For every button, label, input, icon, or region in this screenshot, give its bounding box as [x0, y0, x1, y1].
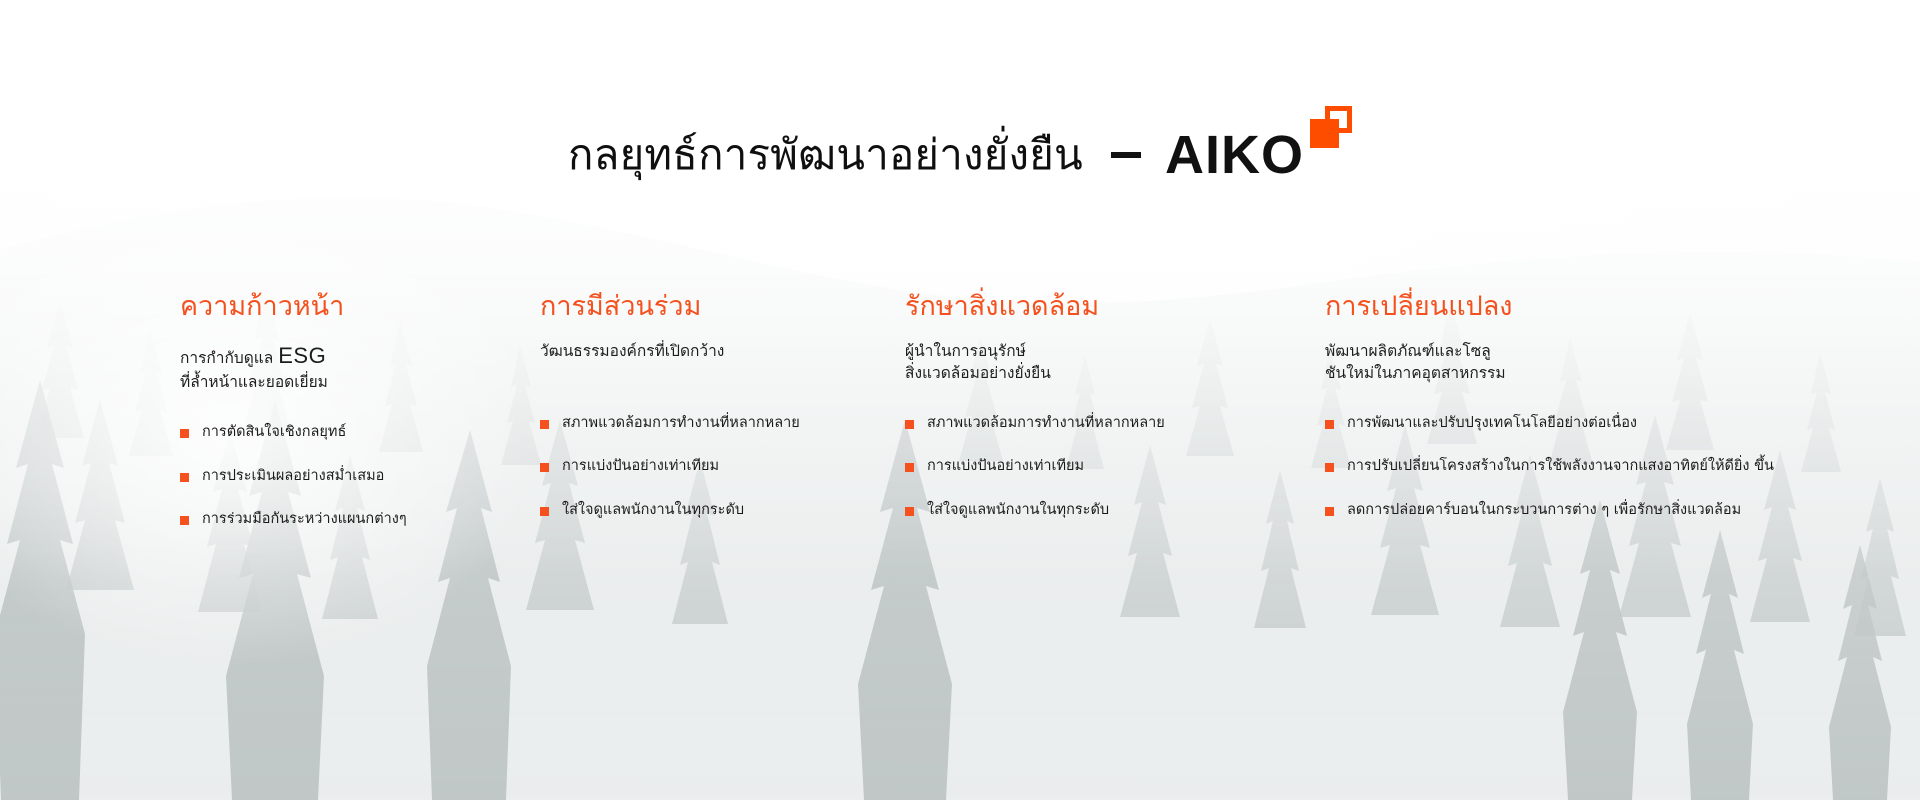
list-item: การร่วมมือกันระหว่างแผนกต่างๆ: [180, 510, 540, 530]
bullet-square-icon: [180, 429, 189, 438]
list-item: การตัดสินใจเชิงกลยุทธ์: [180, 423, 540, 443]
bullet-square-icon: [540, 463, 549, 472]
page-title: กลยุทธ์การพัฒนาอย่างยั่งยืน: [568, 130, 1083, 180]
bullet-label: การพัฒนาและปรับปรุงเทคโนโลยีอย่างต่อเนื่…: [1347, 414, 1637, 434]
list-item: ลดการปล่อยคาร์บอนในกระบวนการต่าง ๆ เพื่อ…: [1325, 501, 1865, 521]
bullet-square-icon: [1325, 463, 1334, 472]
slide-root: กลยุทธ์การพัฒนาอย่างยั่งยืน AIKO ความก้า…: [0, 0, 1920, 800]
aiko-logo: AIKO: [1165, 128, 1352, 182]
aiko-square-mark-icon: [1310, 106, 1352, 148]
bullet-square-icon: [1325, 507, 1334, 516]
bullet-label: การแบ่งปันอย่างเท่าเทียม: [562, 457, 719, 477]
pillar-column-participation: การมีส่วนร่วม วัฒนธรรมองค์กรที่เปิดกว้าง…: [540, 290, 905, 554]
list-item: การประเมินผลอย่างสม่ำเสมอ: [180, 467, 540, 487]
pillar-subtitle: การกำกับดูแล ESG ที่ล้ำหน้าและยอดเยี่ยม: [180, 340, 540, 393]
bullet-label: ใส่ใจดูแลพนักงานในทุกระดับ: [562, 501, 744, 521]
pillar-subtitle-line1-prefix: การกำกับดูแล: [180, 349, 278, 367]
pillar-bullet-list: สภาพแวดล้อมการทำงานที่หลากหลาย การแบ่งปั…: [540, 414, 905, 521]
pillar-column-transformation: การเปลี่ยนแปลง พัฒนาผลิตภัณฑ์และโซลู ชัน…: [1325, 290, 1865, 554]
pillar-subtitle-line2: สิ่งแวดล้อมอย่างยั่งยืน: [905, 364, 1051, 382]
pillar-columns: ความก้าวหน้า การกำกับดูแล ESG ที่ล้ำหน้า…: [180, 290, 1880, 554]
list-item: การพัฒนาและปรับปรุงเทคโนโลยีอย่างต่อเนื่…: [1325, 414, 1865, 434]
bullet-label: ลดการปล่อยคาร์บอนในกระบวนการต่าง ๆ เพื่อ…: [1347, 501, 1741, 521]
bullet-label: การตัดสินใจเชิงกลยุทธ์: [202, 423, 346, 443]
slide-header: กลยุทธ์การพัฒนาอย่างยั่งยืน AIKO: [0, 128, 1920, 182]
pillar-subtitle: ผู้นำในการอนุรักษ์ สิ่งแวดล้อมอย่างยั่งย…: [905, 340, 1325, 384]
list-item: สภาพแวดล้อมการทำงานที่หลากหลาย: [540, 414, 905, 434]
list-item: ใส่ใจดูแลพนักงานในทุกระดับ: [905, 501, 1325, 521]
bullet-square-icon: [180, 473, 189, 482]
title-separator-dash: [1111, 152, 1141, 158]
pillar-subtitle-line1: วัฒนธรรมองค์กรที่เปิดกว้าง: [540, 342, 724, 360]
bullet-label: การประเมินผลอย่างสม่ำเสมอ: [202, 467, 384, 487]
bullet-label: สภาพแวดล้อมการทำงานที่หลากหลาย: [562, 414, 800, 434]
esg-badge: ESG: [278, 343, 326, 368]
pillar-subtitle-line1: ผู้นำในการอนุรักษ์: [905, 342, 1026, 360]
bullet-square-icon: [1325, 420, 1334, 429]
bullet-square-icon: [180, 516, 189, 525]
pillar-bullet-list: สภาพแวดล้อมการทำงานที่หลากหลาย การแบ่งปั…: [905, 414, 1325, 521]
list-item: การแบ่งปันอย่างเท่าเทียม: [905, 457, 1325, 477]
pillar-column-environment: รักษาสิ่งแวดล้อม ผู้นำในการอนุรักษ์ สิ่ง…: [905, 290, 1325, 554]
pillar-subtitle-line1: พัฒนาผลิตภัณฑ์และโซลู: [1325, 342, 1491, 360]
mark-outline-square: [1325, 106, 1352, 133]
bullet-square-icon: [905, 420, 914, 429]
pillar-subtitle-line2: ที่ล้ำหน้าและยอดเยี่ยม: [180, 373, 328, 391]
bullet-label: การร่วมมือกันระหว่างแผนกต่างๆ: [202, 510, 407, 530]
pillar-bullet-list: การพัฒนาและปรับปรุงเทคโนโลยีอย่างต่อเนื่…: [1325, 414, 1865, 521]
pillar-heading: ความก้าวหน้า: [180, 290, 540, 324]
aiko-wordmark: AIKO: [1165, 128, 1304, 182]
bullet-label: การแบ่งปันอย่างเท่าเทียม: [927, 457, 1084, 477]
bullet-label: สภาพแวดล้อมการทำงานที่หลากหลาย: [927, 414, 1165, 434]
pillar-heading: รักษาสิ่งแวดล้อม: [905, 290, 1325, 324]
bullet-square-icon: [540, 507, 549, 516]
pillar-subtitle: วัฒนธรรมองค์กรที่เปิดกว้าง: [540, 340, 905, 384]
pillar-bullet-list: การตัดสินใจเชิงกลยุทธ์ การประเมินผลอย่าง…: [180, 423, 540, 530]
bullet-label: ใส่ใจดูแลพนักงานในทุกระดับ: [927, 501, 1109, 521]
list-item: ใส่ใจดูแลพนักงานในทุกระดับ: [540, 501, 905, 521]
pillar-subtitle-line2: ชันใหม่ในภาคอุตสาหกรรม: [1325, 364, 1506, 382]
pillar-heading: การเปลี่ยนแปลง: [1325, 290, 1865, 324]
list-item: การแบ่งปันอย่างเท่าเทียม: [540, 457, 905, 477]
list-item: การปรับเปลี่ยนโครงสร้างในการใช้พลังงานจา…: [1325, 457, 1865, 477]
bullet-label: การปรับเปลี่ยนโครงสร้างในการใช้พลังงานจา…: [1347, 457, 1774, 477]
pillar-column-progress: ความก้าวหน้า การกำกับดูแล ESG ที่ล้ำหน้า…: [180, 290, 540, 554]
list-item: สภาพแวดล้อมการทำงานที่หลากหลาย: [905, 414, 1325, 434]
bullet-square-icon: [905, 463, 914, 472]
bullet-square-icon: [540, 420, 549, 429]
pillar-heading: การมีส่วนร่วม: [540, 290, 905, 324]
pillar-subtitle: พัฒนาผลิตภัณฑ์และโซลู ชันใหม่ในภาคอุตสาห…: [1325, 340, 1865, 384]
bullet-square-icon: [905, 507, 914, 516]
